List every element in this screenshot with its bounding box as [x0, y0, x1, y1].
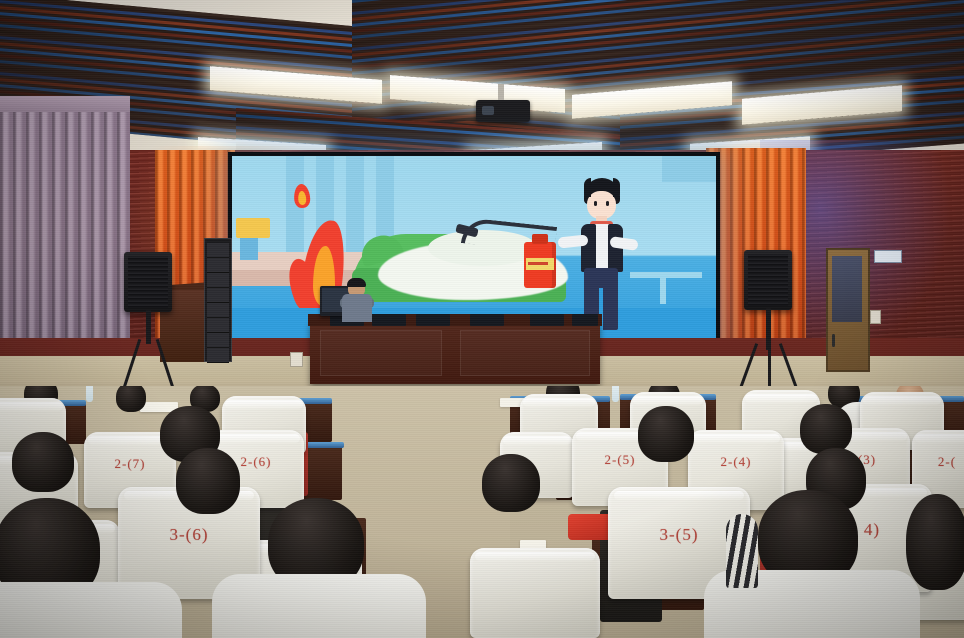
slide-yellow-box [236, 218, 270, 238]
ceiling [0, 0, 964, 162]
rack-unit [207, 273, 229, 288]
audience-seat[interactable]: 3-(5) [608, 487, 750, 599]
presenter-desk [310, 322, 600, 384]
auditorium-scene: 2-(7)2-(6)3-(6)2-(5)2-(4)3-(5)(3)2-(4) [0, 0, 964, 638]
desk-placard [572, 314, 598, 326]
extinguisher-valve [532, 234, 548, 244]
cartoon-vest [581, 224, 596, 272]
projector-lens-icon [482, 106, 494, 115]
audience-seat[interactable] [470, 548, 600, 638]
extinguisher-label [526, 258, 554, 270]
slide-wall-block [662, 156, 716, 182]
audience-seat[interactable] [0, 520, 120, 620]
audience-seat[interactable] [0, 398, 66, 460]
door-glass-panel [832, 256, 862, 322]
seat-number-label: 3-(6) [118, 525, 260, 545]
wall-power-outlet [290, 352, 303, 367]
seat-rows: 2-(7)2-(6)3-(6)2-(5)2-(4)3-(5)(3)2-(4) [0, 386, 964, 638]
cartoon-hair-side [584, 178, 591, 197]
rack-unit [207, 333, 229, 348]
slide-blue-box [240, 238, 258, 260]
seat-number-label: 4) [812, 520, 932, 540]
audience-seat[interactable]: 3-(6) [118, 487, 260, 599]
speaker-grille [128, 256, 168, 308]
ceiling-projector [476, 100, 530, 122]
rack-unit [207, 348, 229, 363]
wall-sign [874, 250, 902, 263]
slide-cartoon-person [562, 178, 638, 330]
desk-placard [416, 314, 450, 326]
slide-table-top [630, 272, 702, 278]
seat-number-label: 2-(6) [208, 454, 304, 470]
desk-placard [530, 314, 564, 326]
cartoon-face [587, 191, 616, 219]
rack-unit [207, 243, 229, 258]
equipment-rack [204, 238, 232, 362]
seat-number-label: 2-( [912, 454, 964, 470]
seat-number-label: 3-(5) [608, 525, 750, 545]
rack-unit [207, 258, 229, 273]
cartoon-hair-side [613, 178, 620, 197]
seat-number-label: 2-(5) [572, 452, 668, 468]
presenter [342, 280, 374, 320]
slide-fire-extinguisher-icon [524, 242, 556, 288]
seat-number-label: 2-(4) [688, 454, 784, 470]
audience-seat[interactable] [0, 452, 78, 526]
light-switch[interactable] [870, 310, 881, 324]
seat-number-label: (3) [824, 452, 910, 468]
left-curtain-rail [0, 96, 130, 112]
presenter-hair [347, 278, 366, 287]
door-handle[interactable] [832, 334, 835, 347]
rack-unit [207, 318, 229, 333]
rack-unit [207, 288, 229, 303]
rack-unit [207, 303, 229, 318]
slide-table-leg [660, 278, 666, 304]
audience-seat[interactable]: 4) [812, 484, 932, 592]
exit-door[interactable] [826, 248, 870, 372]
slide-small-flame-icon [293, 183, 311, 208]
cartoon-eye [594, 201, 597, 206]
desk-panel [320, 330, 442, 376]
speaker-grille [748, 254, 788, 306]
audience-seat[interactable] [500, 432, 574, 498]
desk-placard [470, 314, 504, 326]
cartoon-eye [606, 201, 609, 206]
speaker-stand-pole [146, 310, 151, 344]
desk-placard [372, 314, 406, 326]
seat-number-label: 2-(7) [84, 456, 176, 472]
desk-panel [460, 330, 590, 376]
presenter-uniform [342, 294, 372, 322]
